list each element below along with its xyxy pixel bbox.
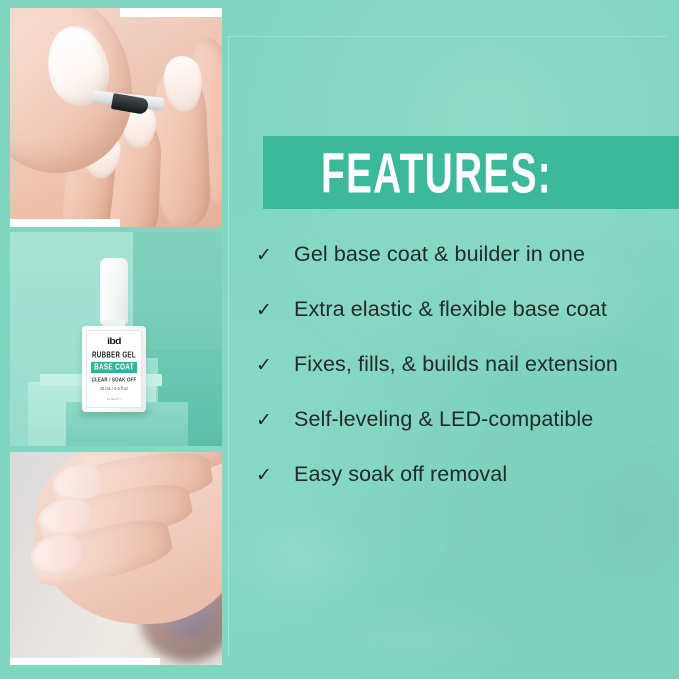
feature-item-label: Self-leveling & LED-compatible bbox=[294, 409, 593, 431]
feature-item-label: Easy soak off removal bbox=[294, 464, 507, 486]
bottle-label: ibd RUBBER GEL BASE COAT CLEAR / SOAK OF… bbox=[86, 330, 142, 408]
photo-finished-nails bbox=[10, 452, 222, 665]
feature-item-label: Extra elastic & flexible base coat bbox=[294, 299, 607, 321]
photo1-white-notch-top bbox=[120, 8, 222, 17]
label-line-rubber-gel: RUBBER GEL bbox=[87, 351, 141, 360]
label-brand: ibd bbox=[83, 337, 145, 346]
feature-item-1: ✓ Gel base coat & builder in one bbox=[256, 244, 676, 299]
checkmark-icon: ✓ bbox=[256, 246, 294, 265]
product-feature-graphic: ibd RUBBER GEL BASE COAT CLEAR / SOAK OF… bbox=[0, 0, 679, 679]
label-line-volume: 15 mL / 0.5 fl oz bbox=[87, 386, 141, 392]
photo-product-bottle: ibd RUBBER GEL BASE COAT CLEAR / SOAK OF… bbox=[10, 232, 222, 446]
checkmark-icon: ✓ bbox=[256, 301, 294, 320]
label-line-footer: ibd BEAUTY bbox=[87, 398, 141, 401]
column-divider-rule bbox=[228, 36, 229, 656]
feature-item-5: ✓ Easy soak off removal bbox=[256, 464, 676, 519]
bottle-cap bbox=[100, 258, 128, 324]
feature-item-label: Fixes, fills, & builds nail extension bbox=[294, 354, 618, 376]
checkmark-icon: ✓ bbox=[256, 466, 294, 485]
label-line-clear-soak-off: CLEAR / SOAK OFF bbox=[87, 377, 141, 383]
photo1-white-notch-bottom bbox=[10, 219, 120, 227]
feature-item-2: ✓ Extra elastic & flexible base coat bbox=[256, 299, 676, 354]
page-title: FEATURES: bbox=[321, 144, 552, 201]
checkmark-icon: ✓ bbox=[256, 356, 294, 375]
feature-list: ✓ Gel base coat & builder in one ✓ Extra… bbox=[256, 244, 676, 519]
label-line-base-coat: BASE COAT bbox=[91, 362, 137, 373]
frame-rule-top bbox=[228, 36, 668, 37]
feature-item-4: ✓ Self-leveling & LED-compatible bbox=[256, 409, 676, 464]
feature-item-3: ✓ Fixes, fills, & builds nail extension bbox=[256, 354, 676, 409]
feature-item-label: Gel base coat & builder in one bbox=[294, 244, 585, 266]
photo3-white-notch-bottom bbox=[10, 658, 160, 665]
features-banner: FEATURES: bbox=[263, 136, 679, 209]
photo-applying-base-coat bbox=[10, 8, 222, 227]
checkmark-icon: ✓ bbox=[256, 411, 294, 430]
